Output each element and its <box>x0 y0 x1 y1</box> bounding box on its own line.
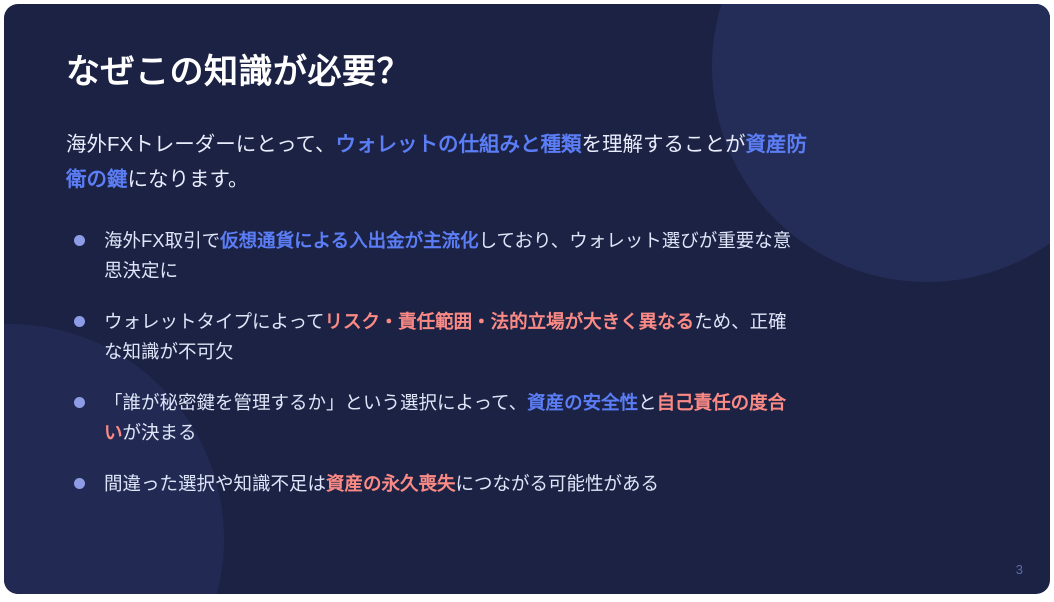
bullet-text-part2: と <box>638 392 657 413</box>
bullet-dot-icon <box>74 235 85 246</box>
page-number: 3 <box>1016 562 1023 577</box>
list-item: 海外FX取引で仮想通貨による入出金が主流化しており、ウォレット選びが重要な意思決… <box>66 226 992 286</box>
bullet-text: ウォレットタイプによってリスク・責任範囲・法的立場が大きく異なるため、正確な知識… <box>104 307 804 367</box>
bullet-dot-icon <box>74 397 85 408</box>
bullet-text-part2: につながる可能性がある <box>456 473 660 494</box>
bullet-text: 海外FX取引で仮想通貨による入出金が主流化しており、ウォレット選びが重要な意思決… <box>104 226 804 286</box>
page-title: なぜこの知識が必要？ <box>66 50 992 94</box>
slide-container: なぜこの知識が必要？ 海外FXトレーダーにとって、ウォレットの仕組みと種類を理解… <box>4 4 1050 594</box>
bullet-text-part1: 「誰が秘密鍵を管理するか」という選択によって、 <box>104 392 527 413</box>
intro-highlight-1: ウォレットの仕組みと種類 <box>336 133 582 156</box>
intro-text-part1: 海外FXトレーダーにとって、 <box>66 133 336 156</box>
bullet-dot-icon <box>74 478 85 489</box>
bullet-dot-icon <box>74 316 85 327</box>
intro-text-part3: になります。 <box>128 168 249 191</box>
slide-content: なぜこの知識が必要？ 海外FXトレーダーにとって、ウォレットの仕組みと種類を理解… <box>4 4 1050 498</box>
list-item: ウォレットタイプによってリスク・責任範囲・法的立場が大きく異なるため、正確な知識… <box>66 307 992 367</box>
bullet-text: 「誰が秘密鍵を管理するか」という選択によって、資産の安全性と自己責任の度合いが決… <box>104 388 804 448</box>
bullet-list: 海外FX取引で仮想通貨による入出金が主流化しており、ウォレット選びが重要な意思決… <box>66 226 992 499</box>
intro-paragraph: 海外FXトレーダーにとって、ウォレットの仕組みと種類を理解することが資産防衛の鍵… <box>66 127 811 198</box>
intro-text-part2: を理解することが <box>582 133 746 156</box>
bullet-text-part1: ウォレットタイプによって <box>104 311 325 332</box>
bullet-highlight-1: 資産の永久喪失 <box>326 473 456 494</box>
list-item: 間違った選択や知識不足は資産の永久喪失につながる可能性がある <box>66 469 992 499</box>
bullet-highlight-1: リスク・責任範囲・法的立場が大きく異なる <box>325 311 695 332</box>
bullet-text-part1: 間違った選択や知識不足は <box>104 473 326 494</box>
bullet-text: 間違った選択や知識不足は資産の永久喪失につながる可能性がある <box>104 469 659 499</box>
list-item: 「誰が秘密鍵を管理するか」という選択によって、資産の安全性と自己責任の度合いが決… <box>66 388 992 448</box>
bullet-highlight-1: 仮想通貨による入出金が主流化 <box>220 230 478 251</box>
bullet-highlight-1: 資産の安全性 <box>527 392 638 413</box>
bullet-text-part3: が決まる <box>123 422 197 443</box>
bullet-text-part1: 海外FX取引で <box>104 230 220 251</box>
